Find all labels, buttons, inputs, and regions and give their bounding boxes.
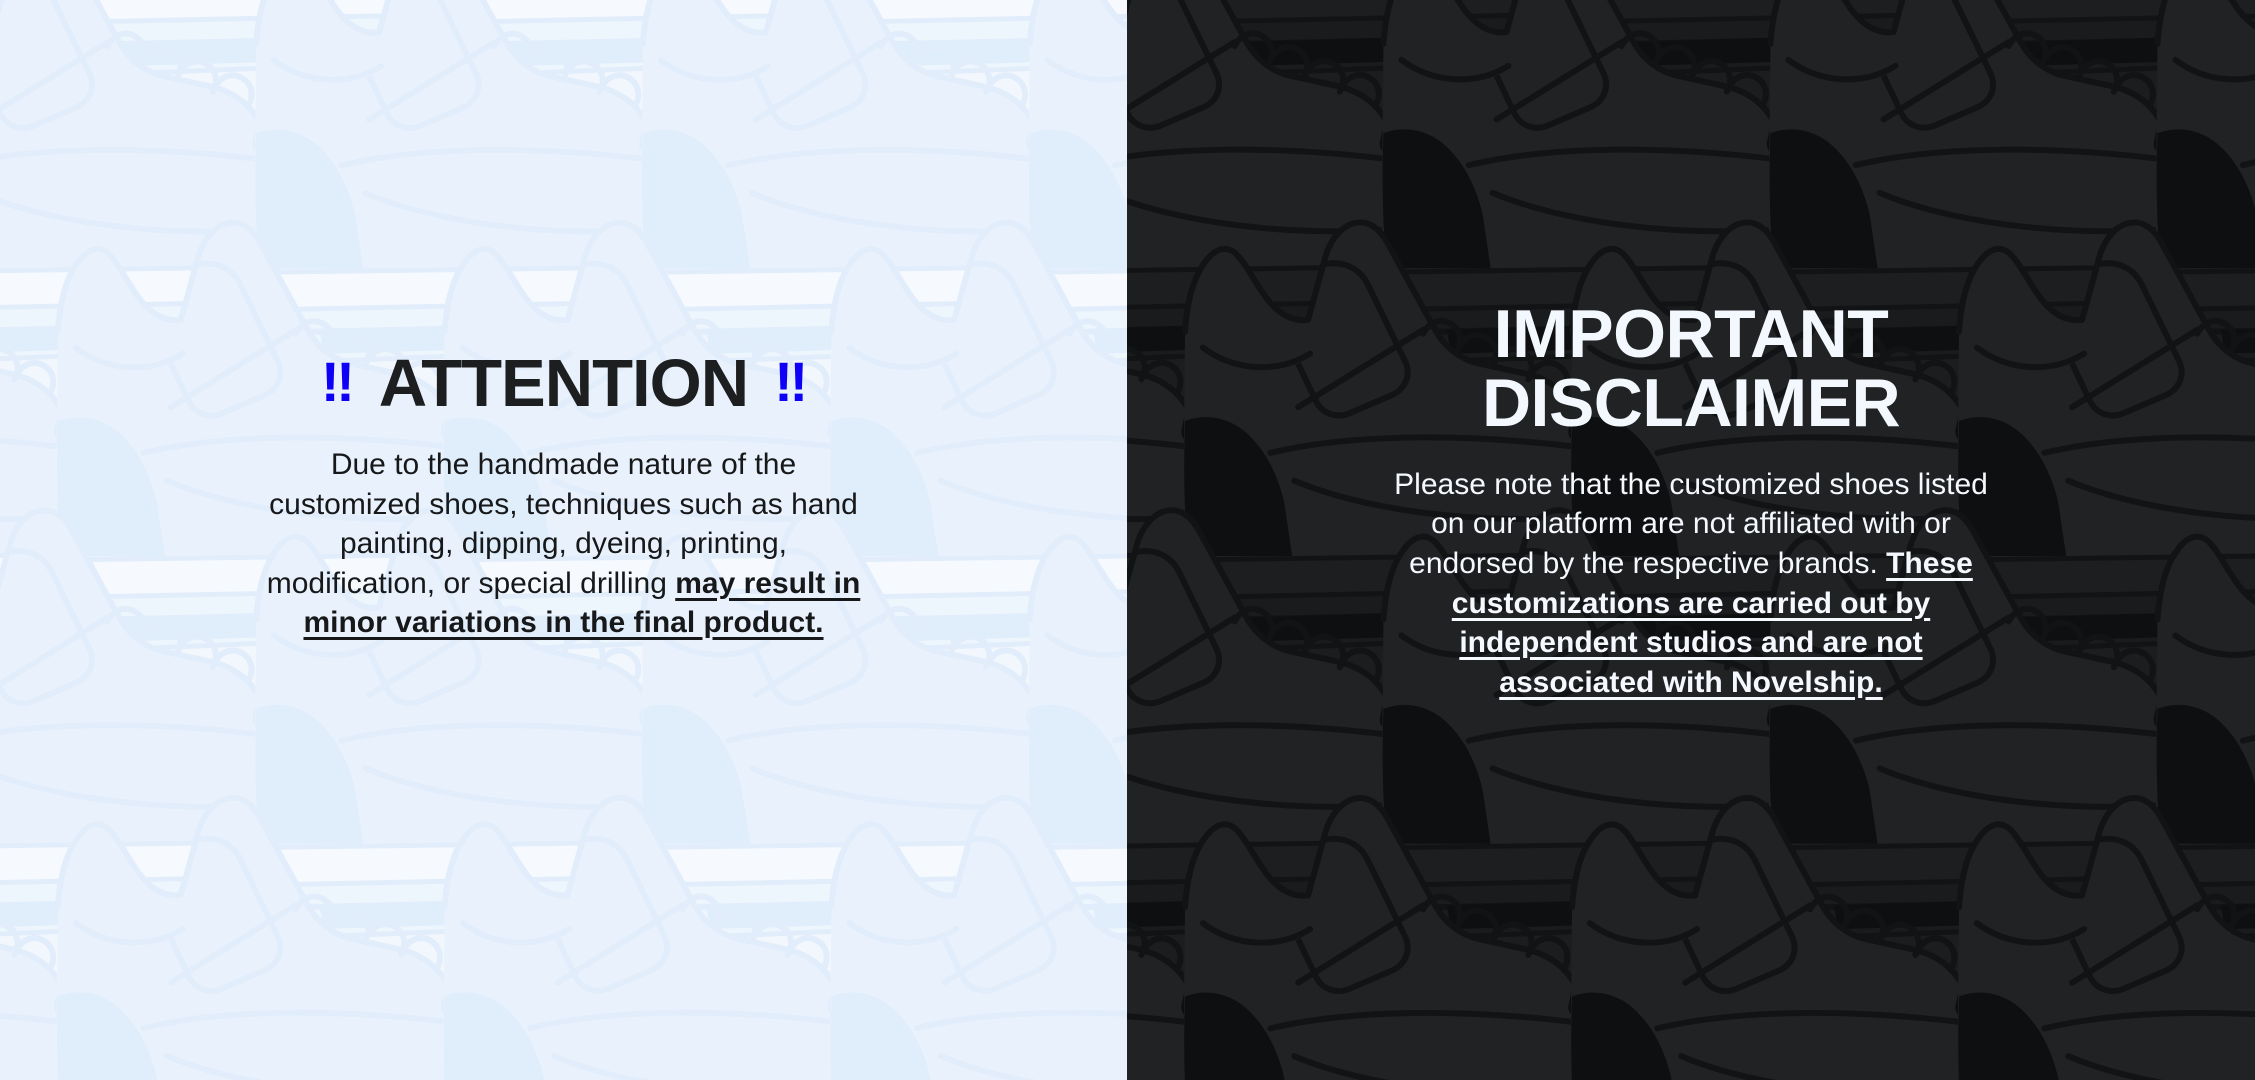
attention-content: ‼ ATTENTION ‼ Due to the handmade nature…	[0, 0, 1127, 643]
disclaimer-heading-line2: DISCLAIMER	[1482, 365, 1900, 441]
attention-heading-word: ATTENTION	[379, 350, 748, 417]
disclaimer-content: IMPORTANT DISCLAIMER Please note that th…	[1128, 0, 2255, 702]
double-exclamation-icon-right: ‼	[774, 354, 806, 410]
disclaimer-heading: IMPORTANT DISCLAIMER	[1341, 300, 2041, 439]
attention-panel: ‼ ATTENTION ‼ Due to the handmade nature…	[0, 0, 1127, 1080]
attention-heading: ‼ ATTENTION ‼	[150, 350, 977, 417]
disclaimer-body: Please note that the customized shoes li…	[1391, 465, 1991, 703]
disclaimer-panel: IMPORTANT DISCLAIMER Please note that th…	[1127, 0, 2255, 1080]
attention-body: Due to the handmade nature of the custom…	[264, 445, 864, 643]
double-exclamation-icon-left: ‼	[321, 354, 353, 410]
promo-banner: ‼ ATTENTION ‼ Due to the handmade nature…	[0, 0, 2255, 1080]
disclaimer-heading-line1: IMPORTANT	[1494, 296, 1889, 372]
